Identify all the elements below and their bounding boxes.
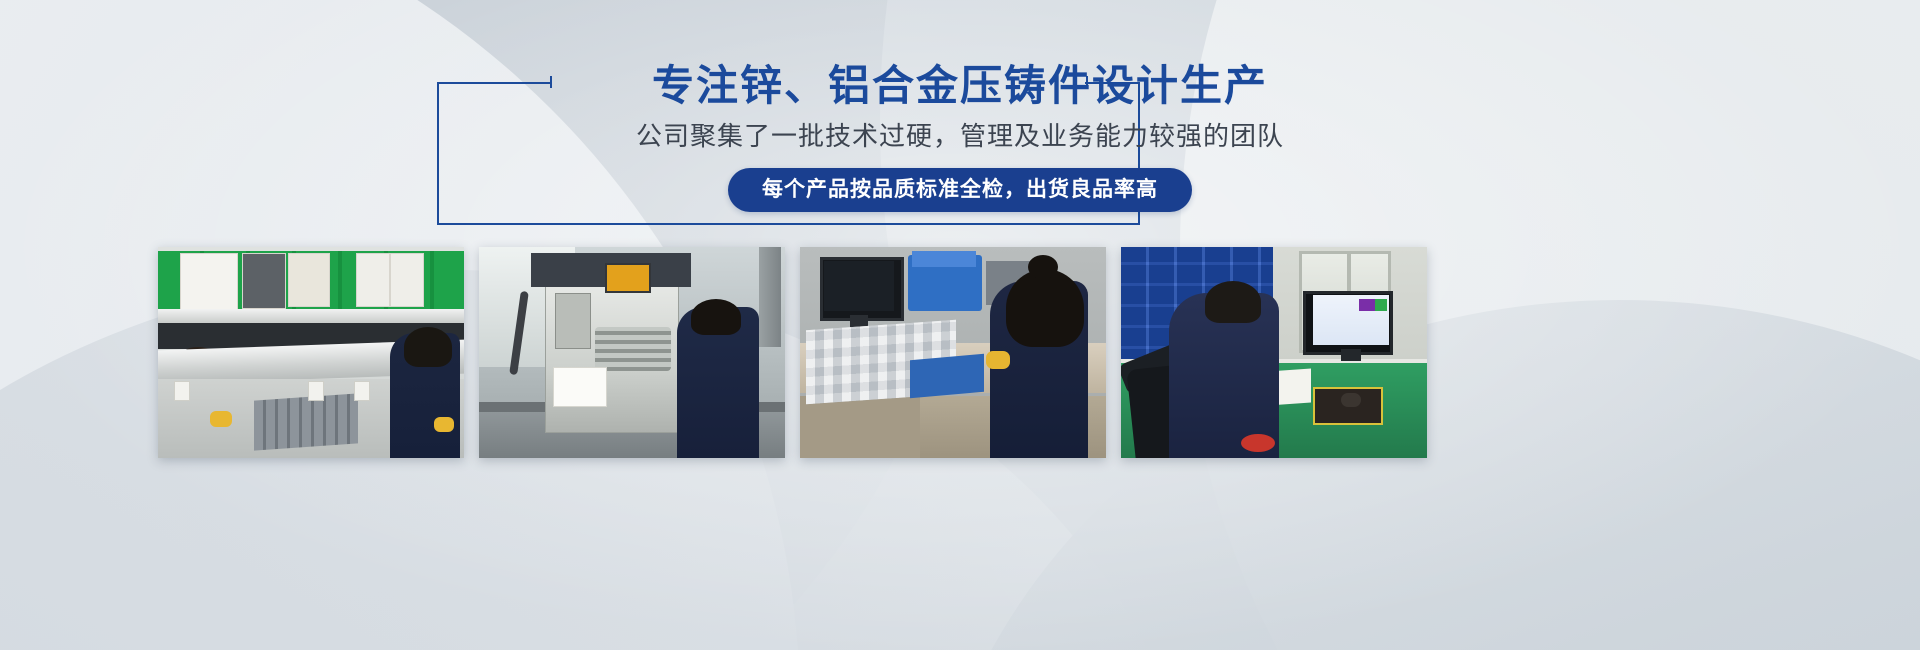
promo-banner: 专注锌、铝合金压铸件设计生产 公司聚集了一批技术过硬，管理及业务能力较强的团队 … xyxy=(0,0,1920,650)
banner-title: 专注锌、铝合金压铸件设计生产 xyxy=(0,60,1920,112)
banner-subtitle: 公司聚集了一批技术过硬，管理及业务能力较强的团队 xyxy=(0,118,1920,154)
quality-badge: 每个产品按品质标准全检，出货良品率高 xyxy=(728,168,1192,212)
headline-block: 专注锌、铝合金压铸件设计生产 公司聚集了一批技术过硬，管理及业务能力较强的团队 … xyxy=(0,60,1920,225)
photo-die-casting-machine xyxy=(479,247,785,458)
photo-inspection-packing xyxy=(800,247,1106,458)
photo-assembly-bench xyxy=(158,247,464,458)
factory-photo-strip xyxy=(158,247,1764,458)
photo-office-workstation xyxy=(1121,247,1427,458)
